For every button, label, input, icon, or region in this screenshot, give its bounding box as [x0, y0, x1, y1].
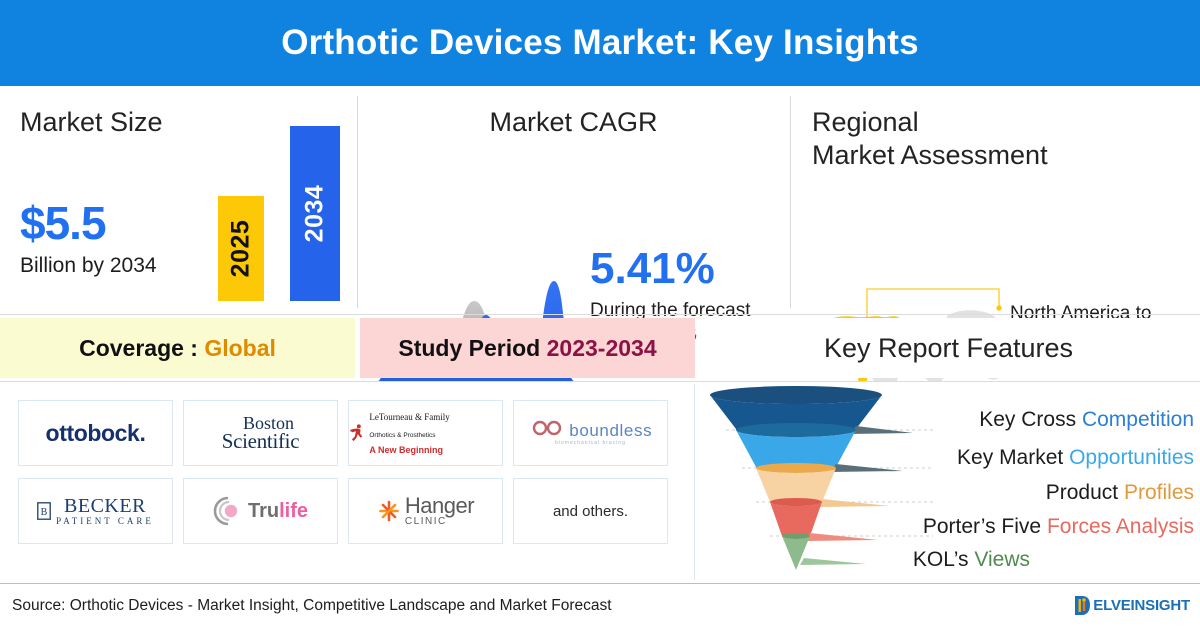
funnel-label-4: Porter’s Five Forces Analysis: [923, 515, 1194, 539]
band-row: Coverage : Global Study Period 2023-2034…: [0, 314, 1200, 382]
svg-text:B: B: [41, 507, 48, 518]
funnel-labels: Key Cross Competition Key Market Opportu…: [929, 382, 1200, 578]
logo-trulife-part1: Tru: [248, 500, 279, 522]
logo-trulife-content: Trulife: [213, 496, 308, 526]
logo-becker-content: B BECKER PATIENT CARE: [37, 496, 154, 526]
funnel-chart: [698, 382, 933, 578]
page-title: Orthotic Devices Market: Key Insights: [281, 23, 919, 63]
key-report-features-band: Key Report Features: [697, 318, 1200, 378]
logo-trulife[interactable]: Trulife: [183, 478, 338, 544]
logo-hanger-content: Hanger CLINIC: [377, 496, 474, 526]
logo-trulife-part2: life: [279, 500, 308, 522]
logo-letourneau-content: LeTourneau & Family Orthotics & Prosthet…: [349, 408, 502, 458]
market-size-subtitle: Billion by 2034: [20, 254, 157, 278]
logo-becker-text: BECKER PATIENT CARE: [56, 496, 154, 526]
logo-boston-scientific[interactable]: Boston Scientific: [183, 400, 338, 466]
funnel-layer-5-top: [782, 533, 810, 539]
funnel-left-divider: [694, 384, 695, 580]
funnel-pointer-3: [818, 499, 890, 507]
logo-letourneau-line2: Orthotics & Prosthetics: [369, 432, 435, 439]
funnel-label-1: Key Cross Competition: [979, 408, 1194, 432]
delveinsight-text: ELVEINSIGHT: [1093, 597, 1190, 614]
trulife-swirl-icon: [213, 496, 243, 526]
coverage-band: Coverage : Global: [0, 318, 355, 378]
market-size-value: $5.5: [20, 196, 106, 250]
funnel-pointer-5: [800, 558, 866, 565]
delveinsight-mark-icon: [1074, 595, 1091, 616]
logo-boundless-content: boundless biomechanical bracing: [529, 420, 652, 446]
and-others-text: and others.: [553, 503, 628, 520]
logo-boundless-text: boundless: [569, 421, 652, 440]
logo-ottobock-text: ottobock.: [46, 420, 146, 447]
market-size-bar-chart: 2025 2034: [212, 106, 347, 301]
logo-letourneau-line3: A New Beginning: [369, 445, 443, 455]
funnel-label-5: KOL’s Views: [913, 548, 1030, 572]
funnel-label-1-accent: Competition: [1082, 408, 1194, 431]
logo-becker-line2: PATIENT CARE: [56, 517, 154, 526]
footer-source-text: Source: Orthotic Devices - Market Insigh…: [12, 597, 612, 615]
company-logos-area: ottobock. Boston Scientific: [0, 382, 694, 582]
company-logo-grid: ottobock. Boston Scientific: [18, 400, 668, 544]
bar-2034: 2034: [290, 126, 340, 301]
funnel-label-4-plain: Porter’s Five: [923, 515, 1047, 538]
delveinsight-logo: ELVEINSIGHT: [1074, 595, 1190, 616]
logo-letourneau-line1: LeTourneau & Family: [369, 412, 449, 422]
market-cagr-title: Market CAGR: [357, 106, 790, 139]
funnel-pointer-1: [848, 426, 913, 434]
funnel-pointer-4: [806, 533, 878, 541]
funnel-layer-3-top: [756, 463, 836, 473]
infinity-icon: [529, 420, 565, 436]
logo-becker-line1: BECKER: [56, 496, 154, 516]
logo-boundless-tagline: biomechanical bracing: [529, 441, 652, 446]
study-period-value: 2023-2034: [547, 335, 657, 361]
logo-boston-scientific-text: Boston Scientific: [222, 415, 299, 451]
key-report-features-area: Key Cross Competition Key Market Opportu…: [694, 382, 1200, 582]
funnel-layer-1-top: [710, 386, 882, 404]
logo-letourneau-text: LeTourneau & Family Orthotics & Prosthet…: [369, 408, 502, 458]
coverage-text: Coverage : Global: [79, 335, 276, 362]
funnel-label-2: Key Market Opportunities: [957, 446, 1194, 470]
panel-divider-2: [790, 96, 791, 308]
bar-2034-label: 2034: [301, 185, 330, 243]
market-size-title: Market Size: [20, 106, 163, 139]
funnel-label-3-plain: Product: [1046, 481, 1124, 504]
funnel-label-3-accent: Profiles: [1124, 481, 1194, 504]
logo-hanger-line1: Hanger: [405, 496, 474, 517]
study-period-text: Study Period 2023-2034: [398, 335, 656, 362]
study-period-band: Study Period 2023-2034: [360, 318, 695, 378]
key-report-features-title: Key Report Features: [824, 333, 1073, 364]
logo-hanger-text: Hanger CLINIC: [405, 496, 474, 526]
logo-and-others: and others.: [513, 478, 668, 544]
coverage-value: Global: [204, 335, 276, 361]
band-top-rule: [0, 314, 1200, 315]
funnel-label-4-accent: Forces Analysis: [1047, 515, 1194, 538]
footer: Source: Orthotic Devices - Market Insigh…: [0, 583, 1200, 630]
funnel-label-3: Product Profiles: [1046, 481, 1194, 505]
hanger-star-icon: [377, 499, 401, 523]
infographic-page: Orthotic Devices Market: Key Insights Ma…: [0, 0, 1200, 630]
logo-becker-patient-care[interactable]: B BECKER PATIENT CARE: [18, 478, 173, 544]
logo-ottobock[interactable]: ottobock.: [18, 400, 173, 466]
connector-dot: [996, 305, 1001, 310]
funnel-layer-2-top: [736, 423, 856, 437]
funnel-label-5-accent: Views: [974, 548, 1030, 571]
top-panels: Market Size $5.5 Billion by 2034 2025 20…: [0, 86, 1200, 314]
funnel-label-2-plain: Key Market: [957, 446, 1069, 469]
study-period-label: Study Period: [398, 335, 546, 361]
becker-crest-icon: B: [37, 502, 51, 520]
header-banner: Orthotic Devices Market: Key Insights: [0, 0, 1200, 86]
funnel-label-1-plain: Key Cross: [979, 408, 1082, 431]
logo-hanger-line2: CLINIC: [405, 517, 474, 527]
footer-rule: [0, 583, 1200, 584]
bar-2025-label: 2025: [227, 220, 256, 278]
logo-hanger-clinic[interactable]: Hanger CLINIC: [348, 478, 503, 544]
bar-2025: 2025: [218, 196, 264, 301]
logo-letourneau-family[interactable]: LeTourneau & Family Orthotics & Prosthet…: [348, 400, 503, 466]
runner-icon: [349, 416, 366, 450]
logo-trulife-text: Trulife: [248, 500, 308, 523]
regional-title: Regional Market Assessment: [812, 106, 1048, 172]
funnel-label-5-plain: KOL’s: [913, 548, 974, 571]
funnel-layer-4-top: [770, 498, 822, 506]
logo-boundless[interactable]: boundless biomechanical bracing: [513, 400, 668, 466]
market-cagr-value: 5.41%: [590, 244, 715, 294]
coverage-label: Coverage :: [79, 335, 204, 361]
funnel-label-2-accent: Opportunities: [1069, 446, 1194, 469]
logo-boston-line2: Scientific: [222, 432, 299, 452]
